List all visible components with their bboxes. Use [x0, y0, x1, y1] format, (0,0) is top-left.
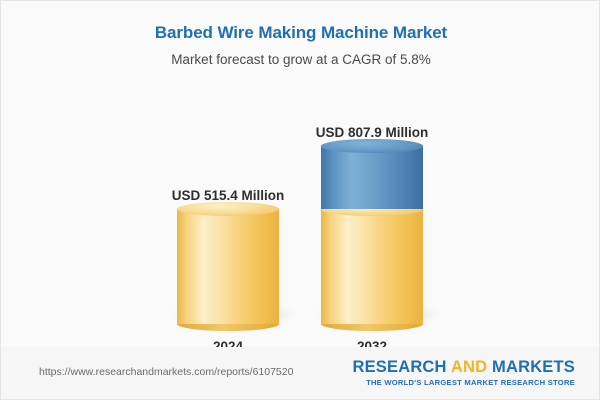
- cylinder-body: [177, 209, 279, 324]
- page-title: Barbed Wire Making Machine Market: [1, 23, 600, 43]
- logo-tagline: THE WORLD'S LARGEST MARKET RESEARCH STOR…: [352, 378, 575, 387]
- bar-segment-base-2032: [321, 202, 423, 324]
- bar-segment-growth-2032: [321, 139, 423, 209]
- footer: https://www.researchandmarkets.com/repor…: [1, 347, 600, 399]
- chart-subtitle: Market forecast to grow at a CAGR of 5.8…: [1, 52, 600, 67]
- logo-word-and: AND: [451, 358, 487, 376]
- cylinder-top-ellipse: [321, 139, 423, 153]
- cylinder-top-ellipse: [177, 202, 279, 216]
- bar-cylinder-2032[interactable]: [321, 139, 423, 324]
- value-label-2024: USD 515.4 Million: [148, 188, 308, 203]
- chart-card: Barbed Wire Making Machine Market Market…: [0, 0, 600, 400]
- plot-area: USD 515.4 Million 2024 USD 807.9 Million: [1, 81, 600, 346]
- cylinder-body: [321, 146, 423, 209]
- bar-cylinder-2024[interactable]: [177, 202, 279, 324]
- report-url[interactable]: https://www.researchandmarkets.com/repor…: [39, 366, 293, 378]
- logo-word-markets: MARKETS: [492, 358, 575, 376]
- bar-segment-base-2024: [177, 202, 279, 324]
- logo-word-research: RESEARCH: [352, 358, 446, 376]
- logo-wordmark: RESEARCH AND MARKETS: [352, 358, 575, 377]
- value-label-2032: USD 807.9 Million: [292, 125, 452, 140]
- cylinder-body: [321, 209, 423, 324]
- brand-logo[interactable]: RESEARCH AND MARKETS THE WORLD'S LARGEST…: [352, 358, 575, 387]
